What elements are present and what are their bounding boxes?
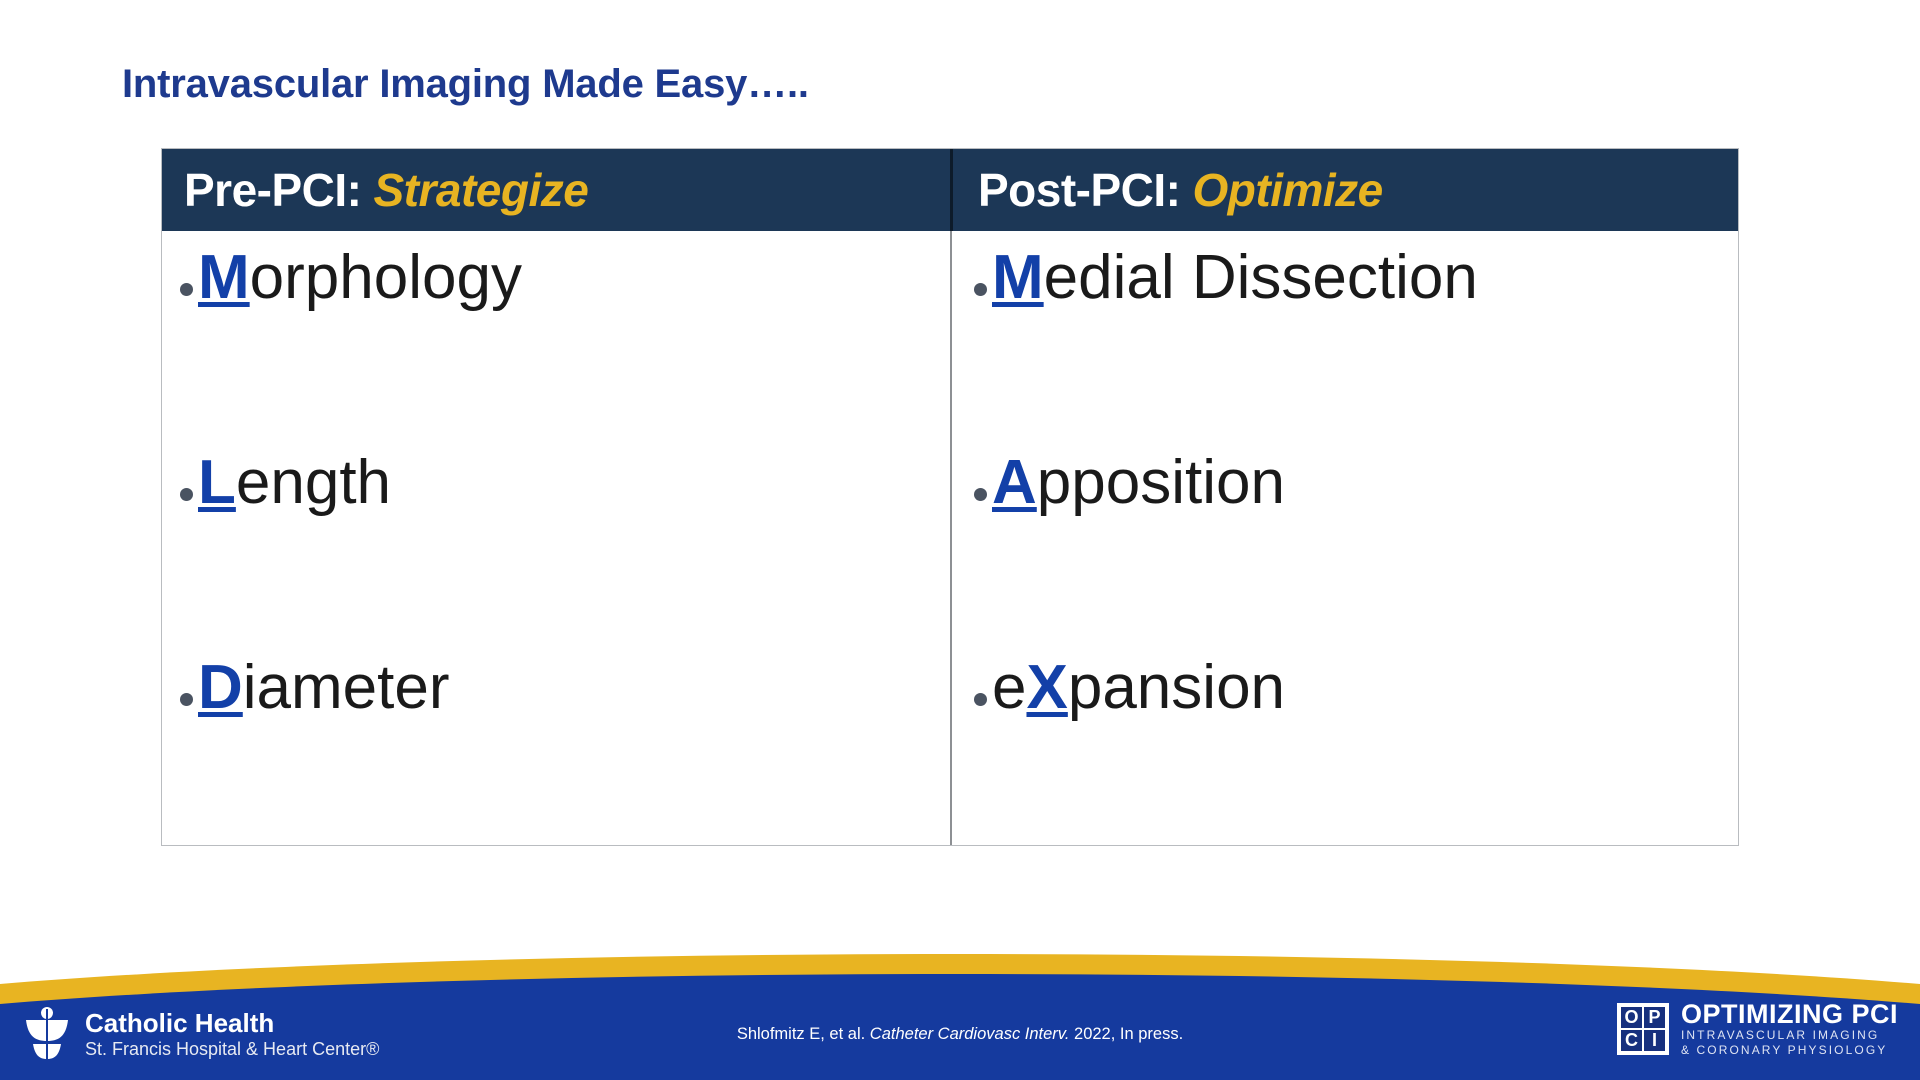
- list-item-text: eXpansion: [992, 655, 1285, 722]
- opci-name: OPTIMIZING PCI: [1681, 1000, 1898, 1028]
- list-item-rest: pansion: [1068, 653, 1285, 722]
- optimizing-pci-logo: O P C I OPTIMIZING PCI INTRAVASCULAR IMA…: [1617, 1000, 1898, 1058]
- column-header-pre-pci: Pre-PCI: Strategize: [162, 149, 950, 231]
- list-item: Length: [162, 450, 950, 655]
- column-header-pre-pci-accent: Strategize: [373, 163, 588, 217]
- list-item: Diameter: [162, 655, 950, 860]
- list-item-text: Medial Dissection: [992, 245, 1478, 312]
- column-post-pci-items: Medial Dissection Apposition eXpansion: [950, 231, 1738, 845]
- list-item: eXpansion: [952, 655, 1738, 860]
- opci-sub-line-2: & CORONARY PHYSIOLOGY: [1681, 1043, 1898, 1058]
- list-item-rest: ength: [236, 448, 391, 517]
- list-item-key-letter: X: [1026, 653, 1067, 722]
- table-header-row: Pre-PCI: Strategize Post-PCI: Optimize: [162, 149, 1738, 231]
- table-body: Morphology Length Diameter Medial Dissec…: [162, 231, 1738, 845]
- list-item-key-letter: A: [992, 448, 1037, 517]
- list-item-rest: pposition: [1037, 448, 1285, 517]
- list-item-key-letter: L: [198, 448, 236, 517]
- list-item-text: Diameter: [198, 655, 450, 722]
- list-item-text: Morphology: [198, 245, 522, 312]
- list-item-key-letter: M: [198, 243, 250, 312]
- bullet-dot-icon: [974, 488, 987, 501]
- list-item-key-letter: M: [992, 243, 1044, 312]
- bullet-dot-icon: [974, 283, 987, 296]
- list-item-text: Apposition: [992, 450, 1285, 517]
- list-item-rest: orphology: [250, 243, 522, 312]
- bullet-dot-icon: [180, 488, 193, 501]
- bullet-dot-icon: [180, 693, 193, 706]
- bullet-dot-icon: [180, 283, 193, 296]
- opci-cell-c: C: [1621, 1030, 1642, 1051]
- column-header-post-pci-prefix: Post-PCI:: [978, 163, 1181, 217]
- list-item-key-letter: D: [198, 653, 243, 722]
- opci-sub-line-1: INTRAVASCULAR IMAGING: [1681, 1028, 1898, 1043]
- page-title: Intravascular Imaging Made Easy…..: [122, 62, 809, 107]
- list-item-rest: iameter: [243, 653, 450, 722]
- list-item: Medial Dissection: [952, 245, 1738, 450]
- citation-tail: 2022, In press.: [1074, 1025, 1183, 1043]
- list-item-text: Length: [198, 450, 391, 517]
- citation-authors: Shlofmitz E, et al.: [737, 1025, 865, 1043]
- opci-cell-i: I: [1644, 1030, 1665, 1051]
- column-header-post-pci-accent: Optimize: [1193, 163, 1383, 217]
- list-item: Apposition: [952, 450, 1738, 655]
- column-pre-pci-items: Morphology Length Diameter: [162, 231, 950, 845]
- opci-mark-icon: O P C I: [1617, 1003, 1669, 1055]
- column-header-pre-pci-prefix: Pre-PCI:: [184, 163, 361, 217]
- opci-cell-o: O: [1621, 1007, 1642, 1028]
- column-header-post-pci: Post-PCI: Optimize: [950, 149, 1738, 231]
- bullet-dot-icon: [974, 693, 987, 706]
- imaging-checklist-table: Pre-PCI: Strategize Post-PCI: Optimize M…: [161, 148, 1739, 846]
- list-item-lead: e: [992, 653, 1026, 722]
- footer-band: Catholic Health St. Francis Hospital & H…: [0, 950, 1920, 1080]
- opci-cell-p: P: [1644, 1007, 1665, 1028]
- citation-journal: Catheter Cardiovasc Interv.: [870, 1025, 1070, 1043]
- list-item-rest: edial Dissection: [1044, 243, 1478, 312]
- list-item: Morphology: [162, 245, 950, 450]
